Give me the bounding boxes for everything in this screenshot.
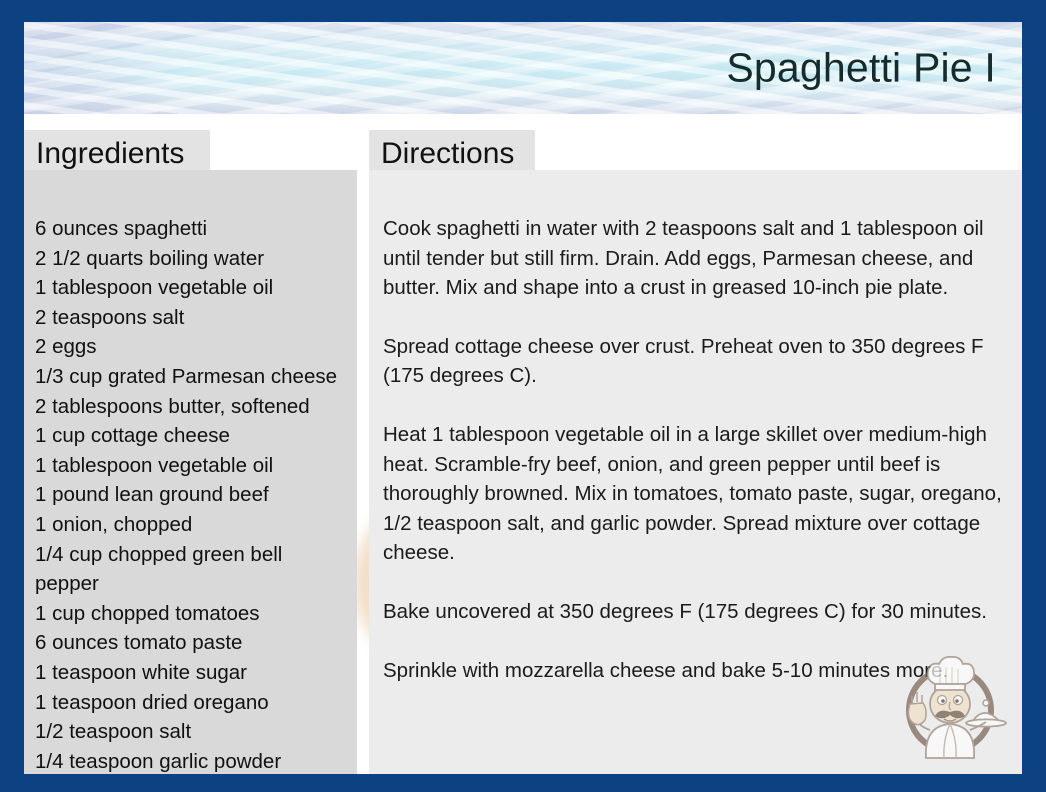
ingredients-list: 6 ounces spaghetti 2 1/2 quarts boiling …: [35, 214, 347, 774]
list-item: 2 1/2 quarts boiling water: [35, 244, 347, 274]
directions-steps: Cook spaghetti in water with 2 teaspoons…: [383, 214, 1008, 685]
recipe-card-inner: Spaghetti Pie I: [24, 22, 1022, 774]
list-item: 6 ounces tomato paste: [35, 628, 347, 658]
list-item: 1 cup cottage cheese: [35, 421, 347, 451]
header-banner: Spaghetti Pie I: [24, 22, 1022, 114]
direction-step: Heat 1 tablespoon vegetable oil in a lar…: [383, 420, 1008, 568]
list-item: 1 cup chopped tomatoes: [35, 599, 347, 629]
list-item: 1 teaspoon dried oregano: [35, 688, 347, 718]
list-item: 1 pound lean ground beef: [35, 480, 347, 510]
page-title: Spaghetti Pie I: [726, 48, 996, 89]
list-item: 1/4 teaspoon garlic powder: [35, 747, 347, 774]
chef-mascot-logo: [890, 648, 1010, 768]
list-item: 1/3 cup grated Parmesan cheese: [35, 362, 347, 392]
list-item: 1/4 cup chopped green bell pepper: [35, 540, 347, 599]
list-item: 1 tablespoon vegetable oil: [35, 451, 347, 481]
list-item: 1/2 teaspoon salt: [35, 717, 347, 747]
list-item: 1 tablespoon vegetable oil: [35, 273, 347, 303]
recipe-card: Spaghetti Pie I: [0, 0, 1046, 792]
list-item: 1 teaspoon white sugar: [35, 658, 347, 688]
direction-step: Bake uncovered at 350 degrees F (175 deg…: [383, 597, 1008, 627]
list-item: 2 tablespoons butter, softened: [35, 392, 347, 422]
list-item: 2 teaspoons salt: [35, 303, 347, 333]
ingredients-panel: 6 ounces spaghetti 2 1/2 quarts boiling …: [24, 170, 357, 774]
list-item: 1 onion, chopped: [35, 510, 347, 540]
list-item: 2 eggs: [35, 332, 347, 362]
direction-step: Spread cottage cheese over crust. Prehea…: [383, 332, 1008, 391]
direction-step: Cook spaghetti in water with 2 teaspoons…: [383, 214, 1008, 303]
list-item: 6 ounces spaghetti: [35, 214, 347, 244]
